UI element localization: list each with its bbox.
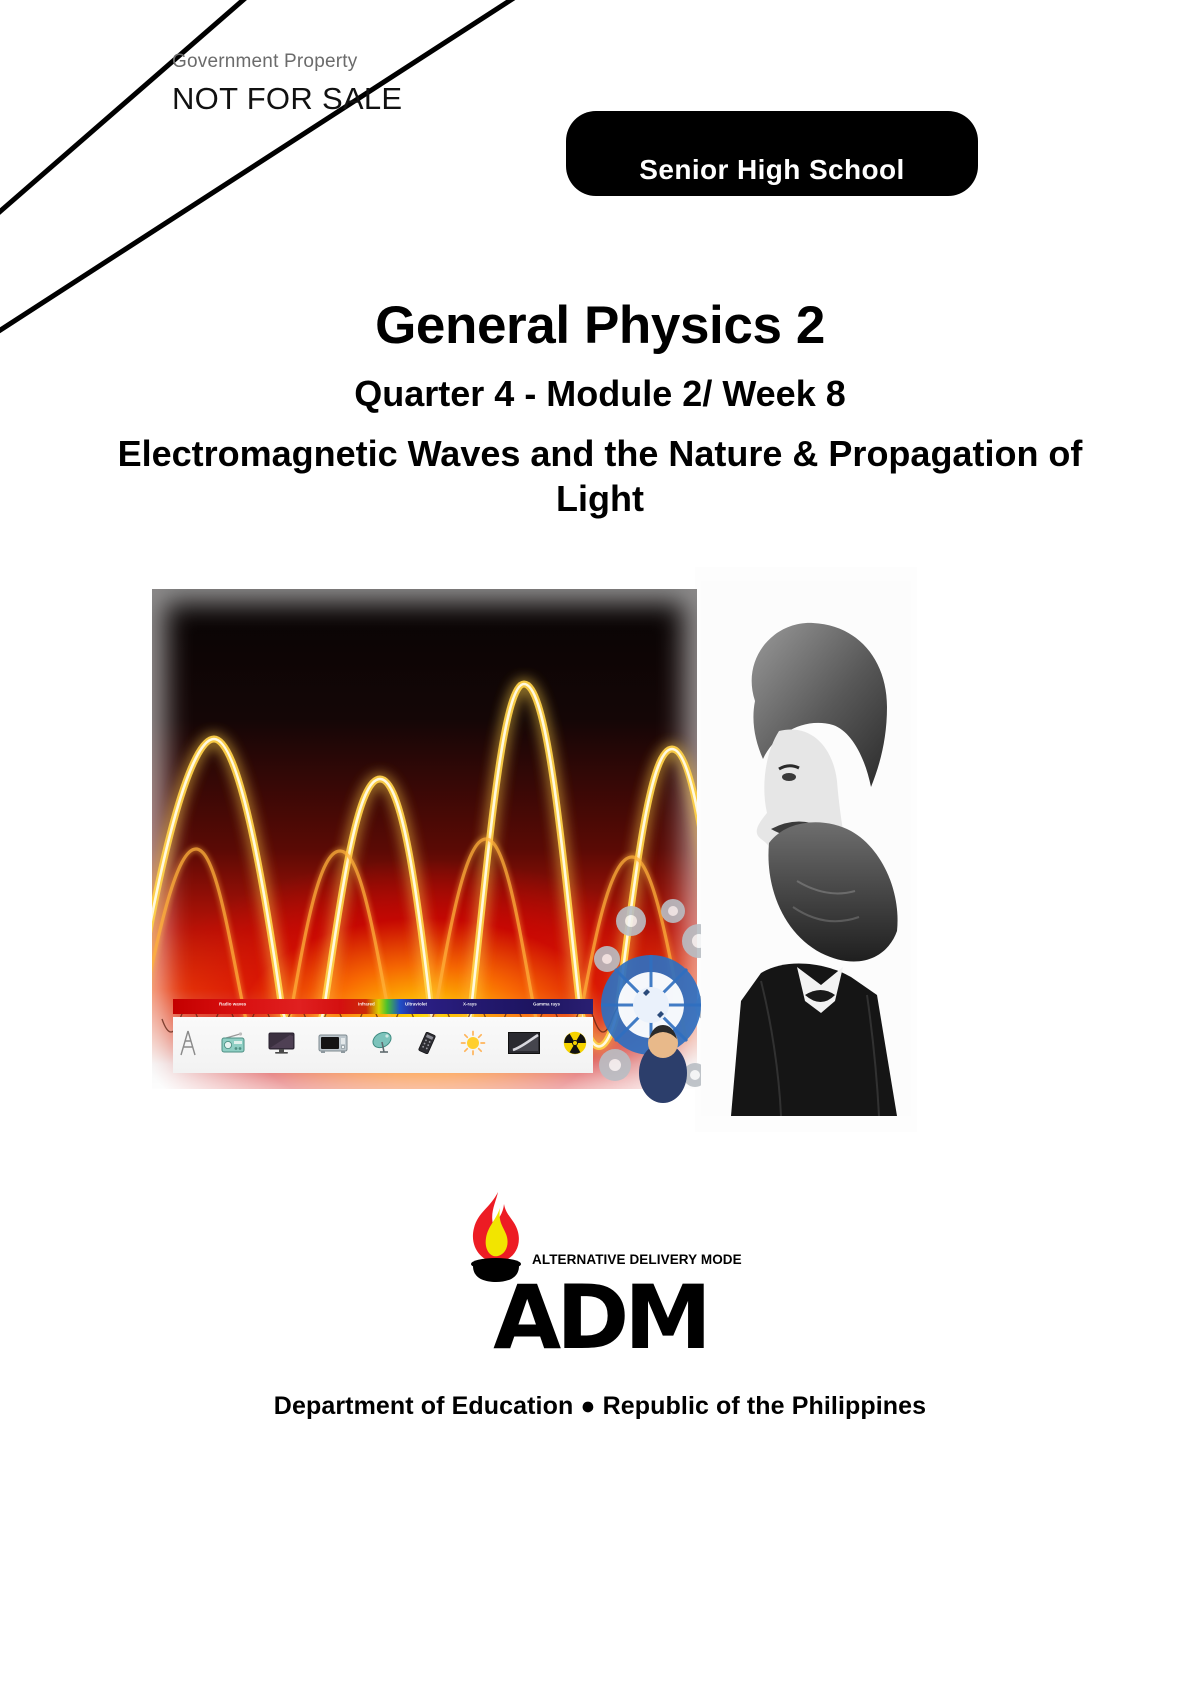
- spectrum-label-uv: Ultraviolet: [405, 1002, 427, 1007]
- microwave-oven-icon: [318, 1033, 348, 1058]
- spectrum-label-radio: Radio waves: [219, 1002, 246, 1007]
- module-cover-page: Government Property NOT FOR SALE Senior …: [0, 0, 1200, 1698]
- sun-icon: [460, 1030, 486, 1060]
- cover-illustration: Radio waves Infrared Ultraviolet X-rays …: [147, 567, 917, 1132]
- spectrum-device-icons: [173, 1017, 593, 1073]
- remote-control-icon: [417, 1032, 437, 1058]
- radio-icon: [220, 1032, 246, 1058]
- spectrum-label-xrays: X-rays: [463, 1002, 477, 1007]
- em-spectrum-bar: Radio waves Infrared Ultraviolet X-rays …: [173, 999, 593, 1014]
- spectrum-label-infrared: Infrared: [358, 1002, 375, 1007]
- senior-high-school-label: Senior High School: [639, 154, 904, 186]
- page-title: General Physics 2: [60, 296, 1140, 355]
- adm-tagline: ALTERNATIVE DELIVERY MODE: [532, 1252, 742, 1267]
- satellite-dish-icon: [371, 1031, 395, 1059]
- adm-wordmark: ADM: [450, 1274, 750, 1354]
- senior-high-school-badge: Senior High School: [566, 111, 978, 196]
- government-property-label: Government Property: [172, 52, 692, 73]
- radiation-hazard-icon: [563, 1031, 587, 1059]
- scientist-portrait: [701, 581, 911, 1116]
- xray-film-icon: [508, 1032, 540, 1058]
- module-subtitle: Quarter 4 - Module 2/ Week 8: [60, 373, 1140, 414]
- adm-wordmark-text: ADM: [450, 1274, 750, 1362]
- adm-logo: ALTERNATIVE DELIVERY MODE ADM: [0, 1190, 1200, 1360]
- television-icon: [268, 1032, 295, 1058]
- spectrum-label-gamma: Gamma rays: [533, 1002, 560, 1007]
- antenna-tower-icon: [179, 1030, 197, 1060]
- title-block: General Physics 2 Quarter 4 - Module 2/ …: [60, 296, 1140, 521]
- footer-deped-line: Department of Education ● Republic of th…: [0, 1392, 1200, 1421]
- module-topic: Electromagnetic Waves and the Nature & P…: [60, 431, 1140, 521]
- government-property-block: Government Property NOT FOR SALE: [172, 52, 692, 115]
